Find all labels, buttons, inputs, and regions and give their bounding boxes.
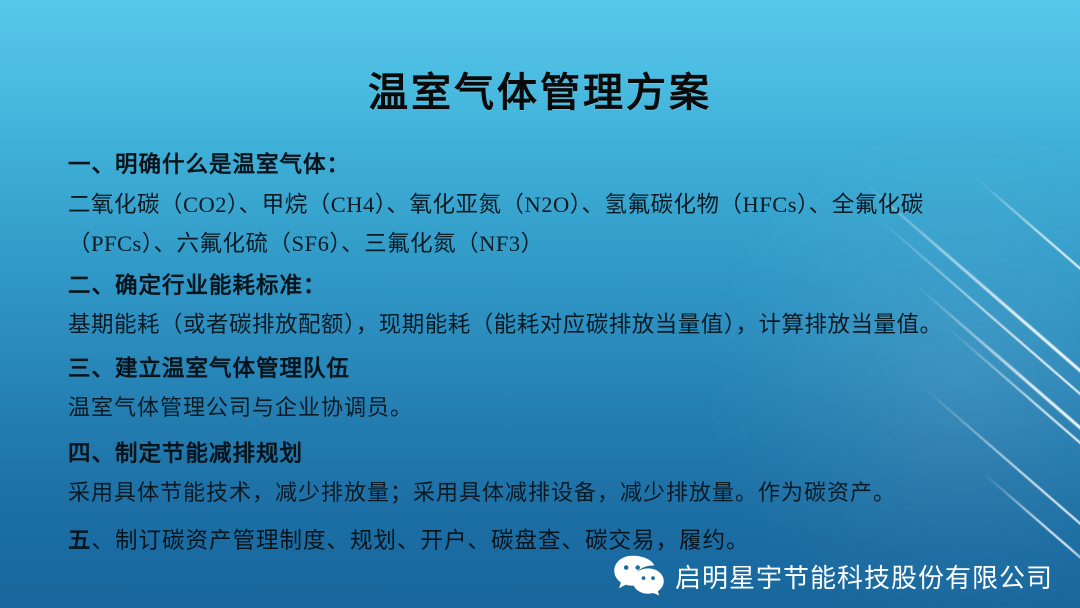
section-four: 四、制定节能减排规划 采用具体节能技术，减少排放量；采用具体减排设备，减少排放量…: [68, 437, 1018, 512]
slide-body: 一、明确什么是温室气体： 二氧化碳（CO2）、甲烷（CH4）、氧化亚氮（N2O）…: [68, 148, 1018, 561]
section-five-number: 五: [68, 528, 92, 553]
section-three-body-line-1: 温室气体管理公司与企业协调员。: [68, 389, 1018, 427]
section-four-heading: 四、制定节能减排规划: [68, 437, 1018, 471]
section-one-body-line-2: （PFCs）、六氟化硫（SF6）、三氟化氮（NF3）: [68, 224, 1018, 263]
section-one-heading: 一、明确什么是温室气体：: [68, 148, 1018, 182]
section-five: 五、制订碳资产管理制度、规划、开户、碳盘查、碳交易，履约。: [68, 524, 1018, 558]
section-three: 三、建立温室气体管理队伍 温室气体管理公司与企业协调员。: [68, 352, 1018, 427]
wechat-icon: [613, 554, 665, 598]
section-five-heading-text: 、制订碳资产管理制度、规划、开户、碳盘查、碳交易，履约。: [92, 528, 750, 553]
wechat-watermark: 启明星宇节能科技股份有限公司: [613, 554, 1053, 598]
section-five-heading: 五、制订碳资产管理制度、规划、开户、碳盘查、碳交易，履约。: [68, 524, 1018, 558]
section-one-body-line-1: 二氧化碳（CO2）、甲烷（CH4）、氧化亚氮（N2O）、氢氟碳化物（HFCs）、…: [68, 185, 1018, 224]
wechat-icon-glyph: [613, 554, 665, 598]
section-one: 一、明确什么是温室气体： 二氧化碳（CO2）、甲烷（CH4）、氧化亚氮（N2O）…: [68, 148, 1018, 263]
slide-canvas: 温室气体管理方案 一、明确什么是温室气体： 二氧化碳（CO2）、甲烷（CH4）、…: [0, 0, 1080, 608]
section-four-body-line-1: 采用具体节能技术，减少排放量；采用具体减排设备，减少排放量。作为碳资产。: [68, 474, 1018, 512]
section-three-heading: 三、建立温室气体管理队伍: [68, 352, 1018, 386]
section-two-heading: 二、确定行业能耗标准：: [68, 269, 1018, 303]
section-two: 二、确定行业能耗标准： 基期能耗（或者碳排放配额），现期能耗（能耗对应碳排放当量…: [68, 269, 1018, 344]
page-title: 温室气体管理方案: [0, 60, 1080, 118]
section-two-body-line-1: 基期能耗（或者碳排放配额），现期能耗（能耗对应碳排放当量值），计算排放当量值。: [68, 306, 1018, 344]
wechat-account-name: 启明星宇节能科技股份有限公司: [675, 558, 1053, 595]
